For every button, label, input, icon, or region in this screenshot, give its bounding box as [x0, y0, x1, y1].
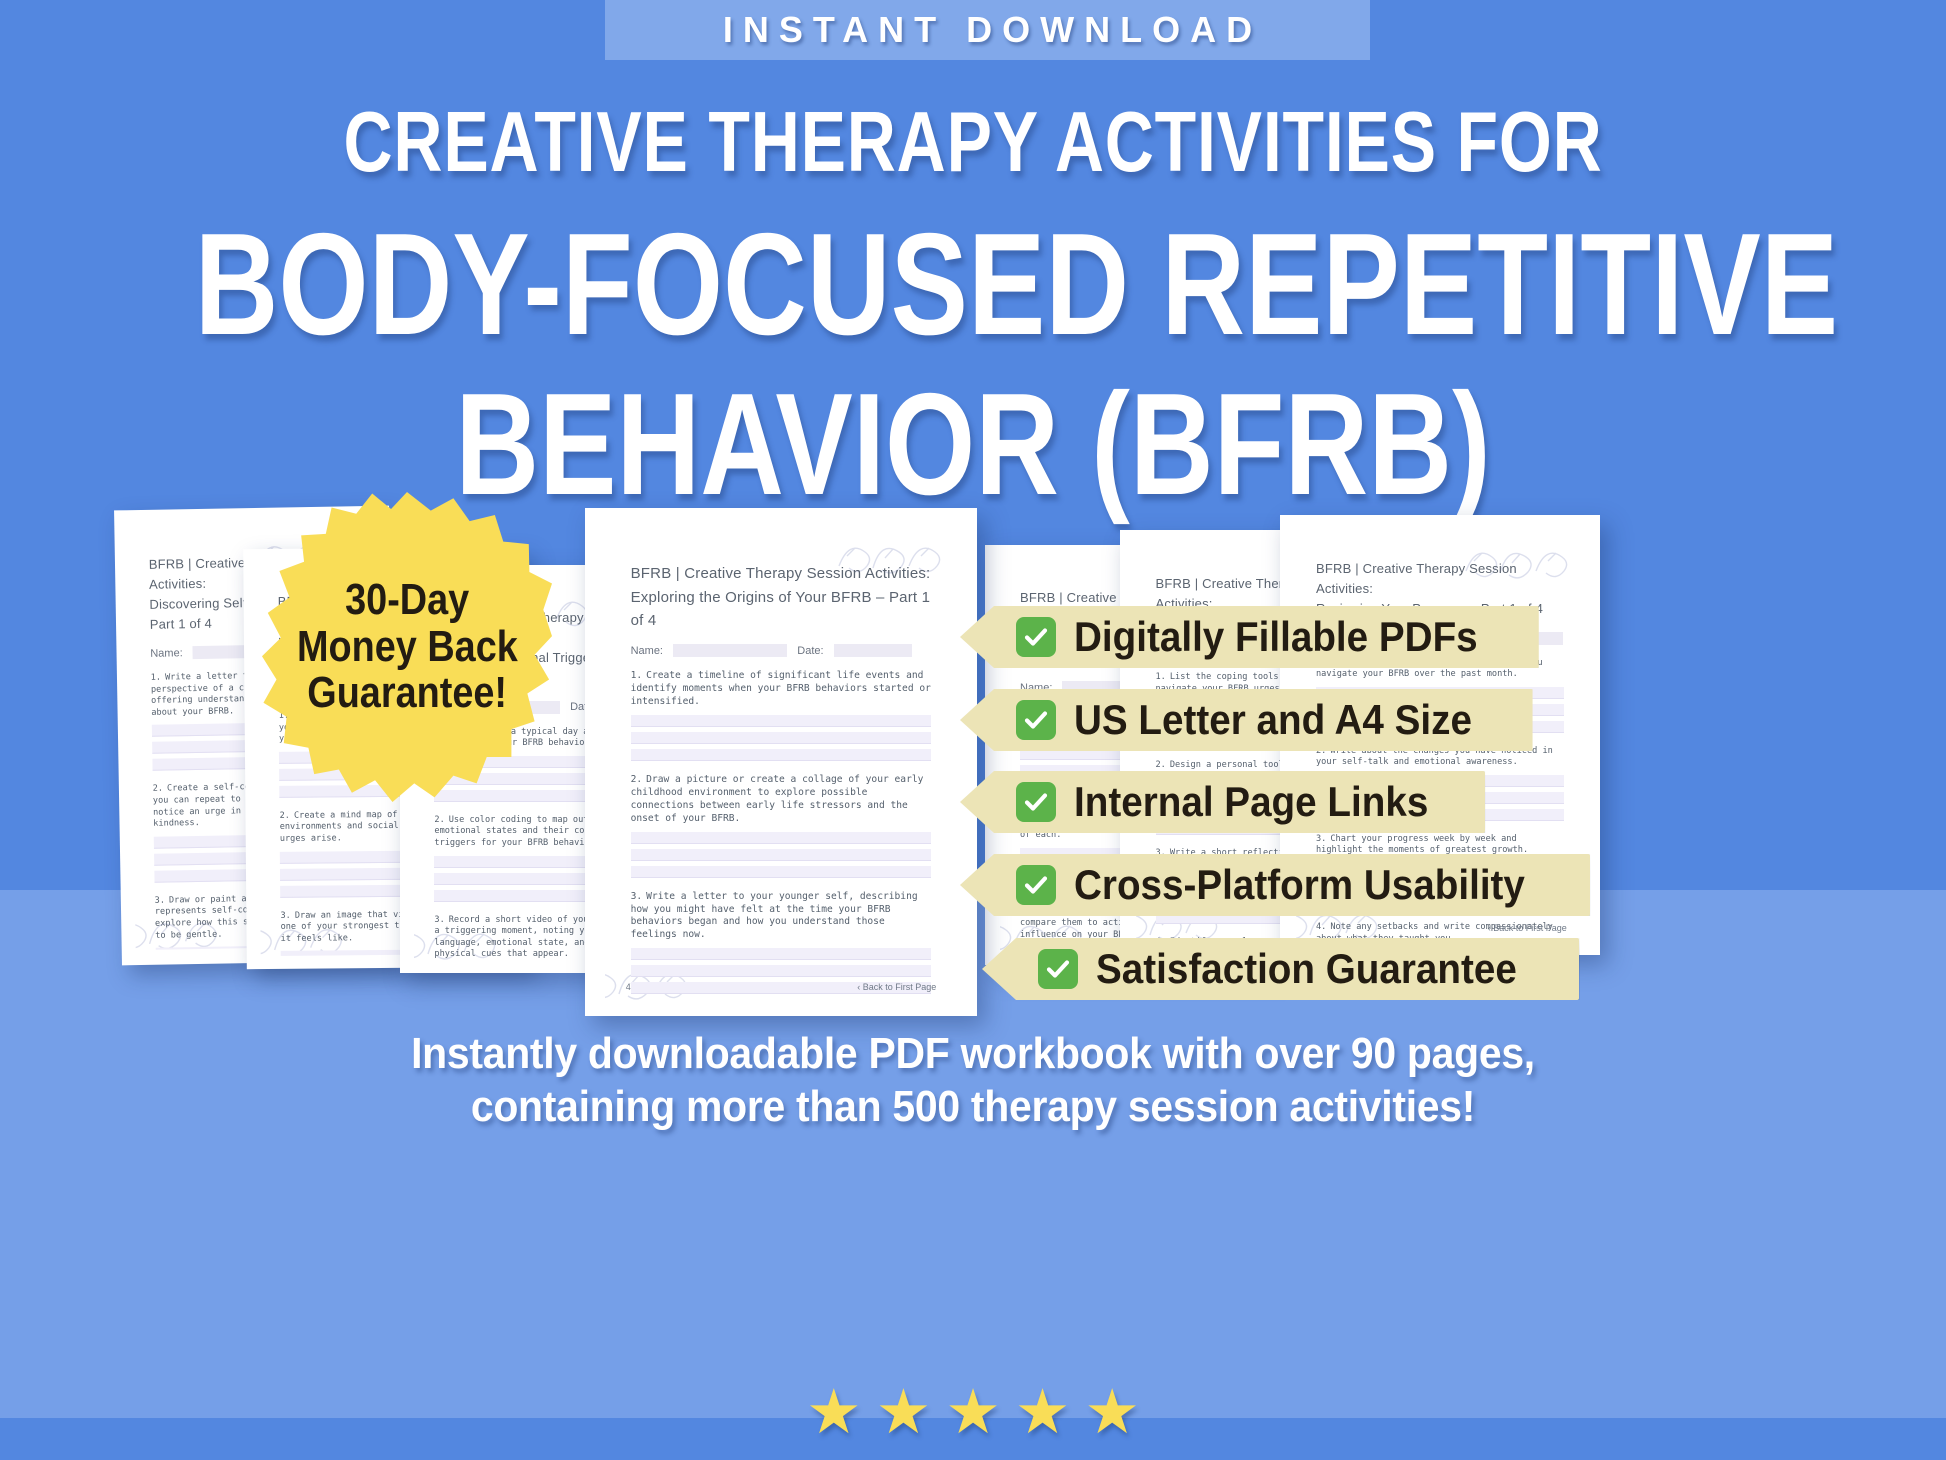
feature-badge-digitally-fillable-pdfs: Digitally Fillable PDFs [960, 606, 1539, 668]
star-icon: ★ [945, 1382, 1001, 1444]
star-icon: ★ [1084, 1382, 1140, 1444]
activity-text: Draw a picture or create a collage of yo… [631, 774, 924, 824]
date-label: Date: [797, 645, 823, 657]
check-icon [1016, 617, 1056, 657]
document-page-featured: BFRB | Creative Therapy Session Activiti… [585, 508, 977, 1016]
page-title: BFRB | Creative Therapy Session Activiti… [631, 565, 931, 582]
page-meta-row: Name:Date: [631, 644, 932, 657]
activity-text: Chart your progress week by week and hig… [1316, 834, 1528, 856]
activity-text: Create a timeline of significant life ev… [631, 670, 931, 707]
instant-download-banner: INSTANT DOWNLOAD [605, 0, 1370, 60]
page-title: BFRB | Creative Therapy Session Activiti… [1316, 561, 1517, 596]
feature-badge-satisfaction-guarantee: Satisfaction Guarantee [982, 938, 1579, 1000]
answer-lines[interactable] [631, 832, 932, 878]
activity-number: 1. [1156, 672, 1166, 684]
feature-label: Digitally Fillable PDFs [1074, 616, 1478, 658]
feature-badge-us-letter-and-a4-size: US Letter and A4 Size [960, 689, 1533, 751]
activity-item: 1.Create a timeline of significant life … [631, 670, 932, 761]
name-label: Name: [631, 645, 663, 657]
answer-lines[interactable] [631, 715, 932, 761]
date-field[interactable] [834, 644, 912, 657]
activity-number: 3. [155, 895, 166, 907]
page-footer: ‹ Back to First Page [1313, 923, 1566, 933]
page-body: BFRB | Creative Therapy Session Activiti… [605, 524, 958, 1000]
promo-graphic: INSTANT DOWNLOAD CREATIVE THERAPY ACTIVI… [0, 0, 1946, 1460]
activity-text: Write a letter to your younger self, des… [631, 891, 918, 941]
back-to-first-page-link[interactable]: ‹ Back to First Page [857, 982, 936, 992]
activity-number: 3. [434, 915, 444, 927]
activity-item: 3.Write a letter to your younger self, d… [631, 891, 932, 995]
star-rating: ★★★★★ [0, 1382, 1946, 1444]
activity-number: 2. [631, 774, 643, 787]
activity-number: 2. [1156, 760, 1166, 772]
guarantee-line-3: Guarantee! [307, 670, 507, 717]
name-field[interactable] [673, 644, 787, 657]
activity-number: 3. [631, 891, 643, 904]
feature-label: Internal Page Links [1074, 781, 1428, 823]
tagline-line-2: containing more than 500 therapy session… [68, 1081, 1878, 1134]
guarantee-line-1: 30-Day [345, 577, 469, 624]
activity-number: 3. [1316, 834, 1326, 846]
activity-item: 2.Draw a picture or create a collage of … [631, 774, 932, 878]
activity-number: 1. [631, 670, 643, 683]
check-icon [1016, 782, 1056, 822]
activity-number: 2. [434, 815, 444, 827]
star-icon: ★ [876, 1382, 932, 1444]
star-icon: ★ [1015, 1382, 1071, 1444]
feature-badge-cross-platform-usability: Cross-Platform Usability [960, 854, 1590, 916]
activity-number: 1. [151, 673, 162, 685]
page-heading: BFRB | Creative Therapy Session Activiti… [631, 562, 932, 632]
tagline-line-1: Instantly downloadable PDF workbook with… [68, 1028, 1878, 1081]
activity-number: 2. [153, 784, 164, 796]
activity-number: 2. [280, 811, 290, 823]
check-icon [1016, 700, 1056, 740]
headline-eyebrow: CREATIVE THERAPY ACTIVITIES FOR [195, 100, 1752, 185]
check-icon [1038, 949, 1078, 989]
star-icon: ★ [806, 1382, 862, 1444]
check-icon [1016, 865, 1056, 905]
headline-line-2: BEHAVIOR (BFRB) [195, 372, 1752, 517]
feature-label: Cross-Platform Usability [1074, 864, 1525, 906]
feature-badge-internal-page-links: Internal Page Links [960, 771, 1485, 833]
tagline: Instantly downloadable PDF workbook with… [68, 1028, 1878, 1134]
feature-label: Satisfaction Guarantee [1096, 948, 1517, 990]
headline-line-1: BODY-FOCUSED REPETITIVE [195, 212, 1752, 357]
instant-download-label: INSTANT DOWNLOAD [713, 9, 1262, 51]
activity-number: 3. [280, 910, 290, 922]
page-subtitle: Exploring the Origins of Your BFRB – Par… [631, 586, 932, 633]
back-to-first-page-link[interactable]: ‹ Back to First Page [1488, 923, 1567, 933]
name-label: Name: [150, 647, 183, 660]
page-footer: 4‹ Back to First Page [626, 982, 937, 992]
page-number: 4 [626, 982, 631, 992]
guarantee-line-2: Money Back [297, 624, 518, 671]
feature-label: US Letter and A4 Size [1074, 699, 1472, 741]
